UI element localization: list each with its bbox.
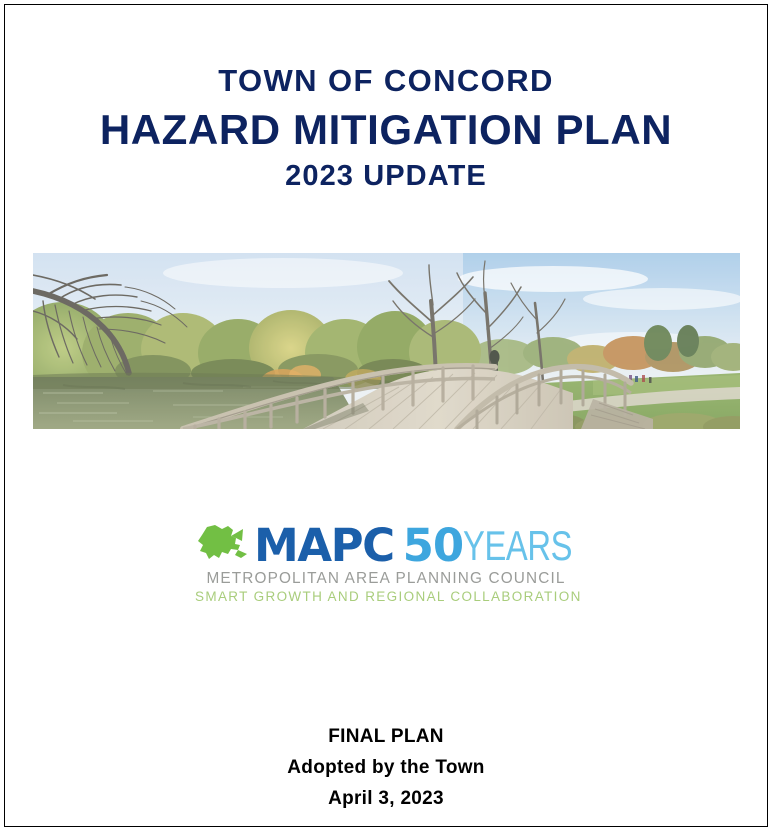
mapc-logo: MAPC 50 YEARS METROPOLITAN AREA PLANNING… (0, 518, 772, 604)
mapc-anniversary-word: YEARS (463, 524, 572, 568)
cover-title-block: TOWN OF CONCORD HAZARD MITIGATION PLAN 2… (0, 64, 772, 192)
mapc-region-map-icon (195, 521, 253, 565)
page-title-update: 2023 UPDATE (0, 160, 772, 192)
cover-photo (33, 253, 740, 429)
mapc-tagline: SMART GROWTH AND REGIONAL COLLABORATION (195, 589, 577, 604)
mapc-wordmark: MAPC (254, 524, 394, 568)
mapc-logo-wordmark-row: MAPC 50 YEARS (195, 518, 577, 568)
page-title-town: TOWN OF CONCORD (0, 64, 772, 99)
footer-adoption-date: April 3, 2023 (0, 788, 772, 810)
document-cover-page: TOWN OF CONCORD HAZARD MITIGATION PLAN 2… (0, 0, 772, 831)
mapc-anniversary-number: 50 (403, 524, 464, 568)
footer-adoption-text: Adopted by the Town (0, 757, 772, 779)
cover-footer-block: FINAL PLAN Adopted by the Town April 3, … (0, 726, 772, 810)
cover-photo-illustration (33, 253, 740, 429)
mapc-subtitle: METROPOLITAN AREA PLANNING COUNCIL (197, 570, 575, 588)
footer-plan-status: FINAL PLAN (0, 726, 772, 748)
page-title-plan: HAZARD MITIGATION PLAN (0, 106, 772, 153)
